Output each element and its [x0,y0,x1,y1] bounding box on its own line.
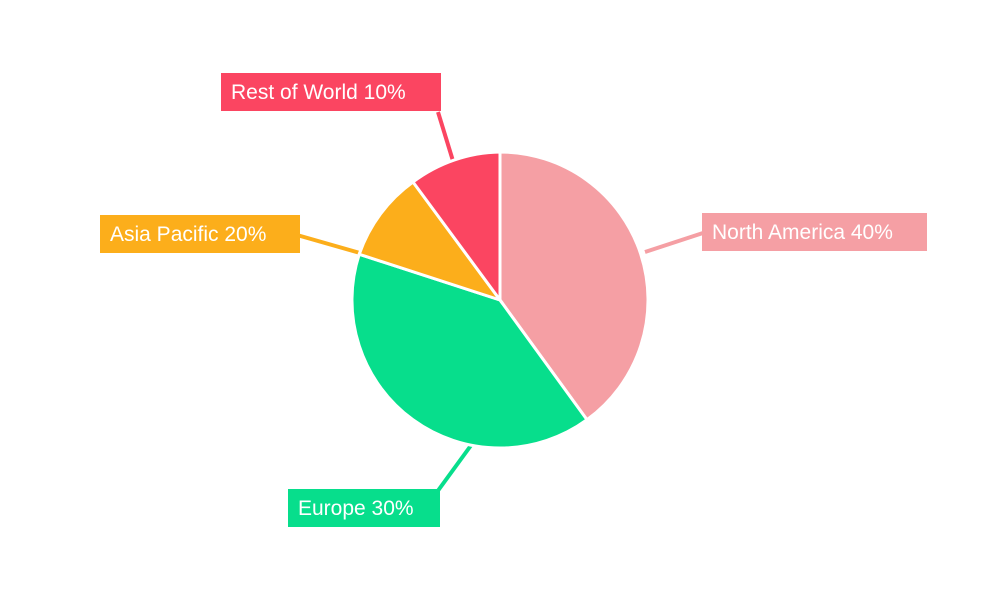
leader-line-north-america [645,232,706,252]
pie-chart: North America 40% Europe 30% Asia Pacifi… [0,0,1000,600]
pie-label-asia-pacific: Asia Pacific 20% [100,215,300,253]
pie-label-rest-of-world: Rest of World 10% [221,73,441,111]
pie-label-north-america-text: North America 40% [712,222,893,243]
leader-line-europe [437,444,472,492]
pie-label-asia-pacific-text: Asia Pacific 20% [110,224,266,245]
pie-label-europe-text: Europe 30% [298,498,414,519]
pie-label-north-america: North America 40% [702,213,927,251]
pie-chart-canvas [0,0,1000,600]
leader-line-asia-pacific [297,235,360,253]
pie-label-rest-of-world-text: Rest of World 10% [231,82,406,103]
pie-label-europe: Europe 30% [288,489,440,527]
